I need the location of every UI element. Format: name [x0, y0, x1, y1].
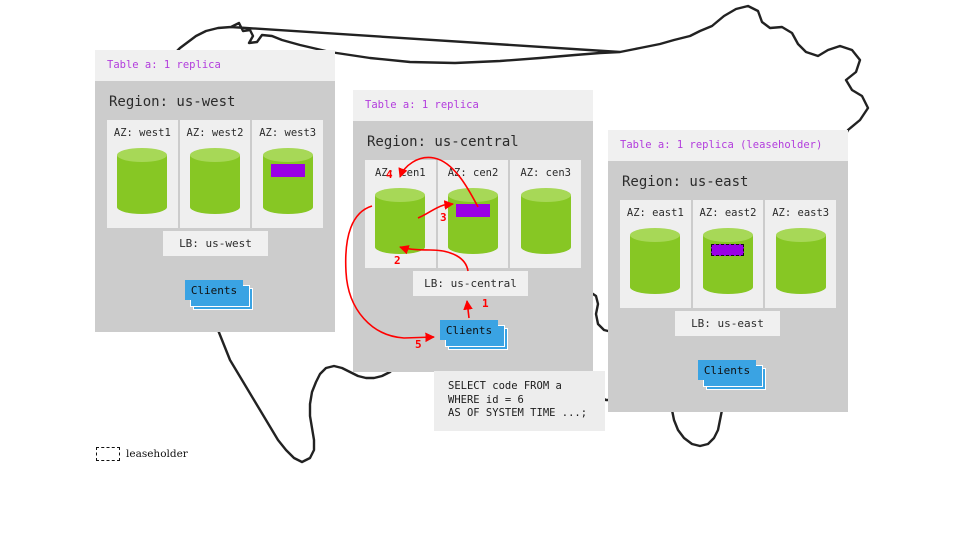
- region-title-us-west: Region: us-west: [95, 81, 335, 120]
- az-row-us-central: AZ: cen1 AZ: cen2 AZ: cen3: [365, 160, 581, 268]
- az-label-east2: AZ: east2: [700, 207, 757, 219]
- region-title-us-central: Region: us-central: [353, 121, 593, 160]
- clients-button-us-central[interactable]: Clients: [440, 320, 498, 340]
- sql-query-note: SELECT code FROM a WHERE id = 6 AS OF SY…: [434, 371, 605, 431]
- db-node-cen3[interactable]: [521, 188, 571, 254]
- clients-us-west[interactable]: Clients: [185, 280, 255, 312]
- flow-step-label-3: 3: [440, 211, 447, 224]
- replica-marker-cen2: [456, 204, 490, 217]
- az-card-east2[interactable]: AZ: east2: [693, 200, 764, 308]
- region-banner-us-central: Table a: 1 replica: [353, 90, 593, 121]
- az-card-cen3[interactable]: AZ: cen3: [510, 160, 581, 268]
- region-banner-us-east: Table a: 1 replica (leaseholder): [608, 130, 848, 161]
- load-balancer-us-central[interactable]: LB: us-central: [413, 271, 528, 296]
- load-balancer-label-us-east: LB: us-east: [691, 317, 764, 330]
- db-node-cen2[interactable]: [448, 188, 498, 254]
- db-node-west3[interactable]: [263, 148, 313, 214]
- az-card-west2[interactable]: AZ: west2: [180, 120, 251, 228]
- clients-us-east[interactable]: Clients: [698, 360, 768, 392]
- az-label-west3: AZ: west3: [259, 127, 316, 139]
- db-node-west2[interactable]: [190, 148, 240, 214]
- db-node-cen1[interactable]: [375, 188, 425, 254]
- flow-step-label-2: 2: [394, 254, 401, 267]
- az-card-east1[interactable]: AZ: east1: [620, 200, 691, 308]
- load-balancer-label-us-central: LB: us-central: [424, 277, 517, 290]
- clients-button-us-east[interactable]: Clients: [698, 360, 756, 380]
- az-label-east1: AZ: east1: [627, 207, 684, 219]
- az-label-west1: AZ: west1: [114, 127, 171, 139]
- clients-label-us-west: Clients: [191, 284, 237, 297]
- legend-label: leaseholder: [126, 448, 188, 460]
- diagram-canvas: Table a: 1 replica Region: us-west AZ: w…: [0, 0, 960, 540]
- legend: leaseholder: [96, 447, 188, 461]
- clients-label-us-east: Clients: [704, 364, 750, 377]
- az-card-cen2[interactable]: AZ: cen2: [438, 160, 509, 268]
- az-label-cen2: AZ: cen2: [448, 167, 499, 179]
- az-card-west3[interactable]: AZ: west3: [252, 120, 323, 228]
- az-row-us-east: AZ: east1 AZ: east2 AZ: east3: [620, 200, 836, 308]
- clients-label-us-central: Clients: [446, 324, 492, 337]
- az-row-us-west: AZ: west1 AZ: west2 AZ: west3: [107, 120, 323, 228]
- flow-step-label-4: 4: [386, 168, 393, 181]
- leaseholder-swatch-icon: [96, 447, 120, 461]
- flow-step-label-1: 1: [482, 297, 489, 310]
- flow-step-label-5: 5: [415, 338, 422, 351]
- az-label-cen3: AZ: cen3: [520, 167, 571, 179]
- region-title-us-east: Region: us-east: [608, 161, 848, 200]
- region-banner-us-west: Table a: 1 replica: [95, 50, 335, 81]
- az-label-east3: AZ: east3: [772, 207, 829, 219]
- db-node-east2[interactable]: [703, 228, 753, 294]
- az-card-east3[interactable]: AZ: east3: [765, 200, 836, 308]
- db-node-west1[interactable]: [117, 148, 167, 214]
- clients-button-us-west[interactable]: Clients: [185, 280, 243, 300]
- az-card-west1[interactable]: AZ: west1: [107, 120, 178, 228]
- load-balancer-label-us-west: LB: us-west: [179, 237, 252, 250]
- clients-us-central[interactable]: Clients: [440, 320, 510, 352]
- db-node-east3[interactable]: [776, 228, 826, 294]
- replica-marker-west3: [271, 164, 305, 177]
- az-card-cen1[interactable]: AZ: cen1: [365, 160, 436, 268]
- load-balancer-us-west[interactable]: LB: us-west: [163, 231, 268, 256]
- az-label-cen1: AZ: cen1: [375, 167, 426, 179]
- replica-marker-east2-leaseholder: [711, 244, 744, 256]
- db-node-east1[interactable]: [630, 228, 680, 294]
- load-balancer-us-east[interactable]: LB: us-east: [675, 311, 780, 336]
- az-label-west2: AZ: west2: [187, 127, 244, 139]
